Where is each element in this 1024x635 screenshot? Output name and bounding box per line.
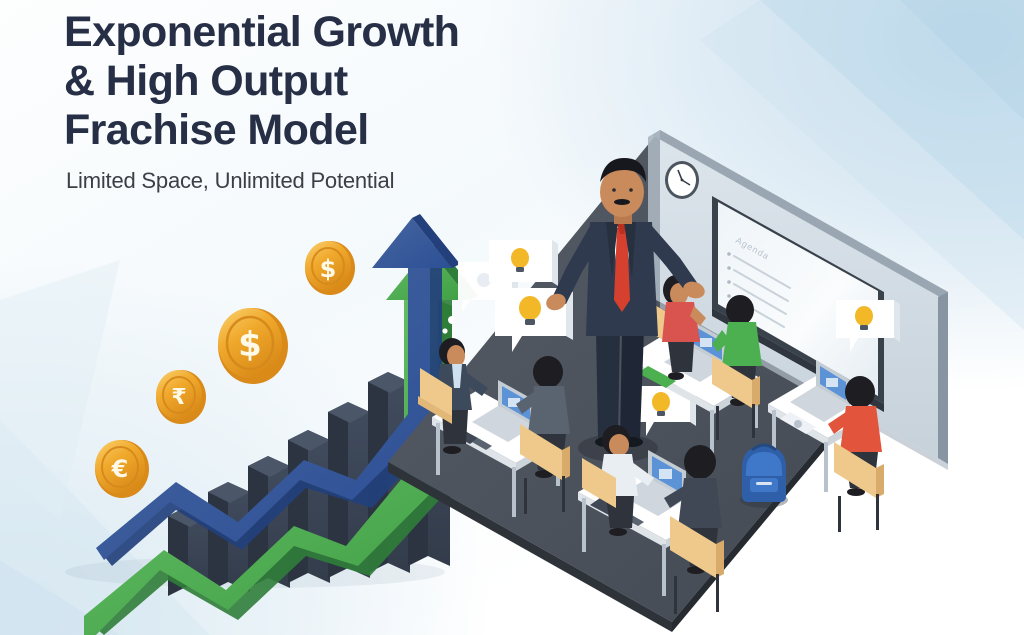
promo-banner: Exponential Growth & High Output Frachis… xyxy=(0,0,1024,635)
wall-clock xyxy=(665,161,699,199)
classroom-illustration: Agenda xyxy=(0,0,1024,635)
student-backpack xyxy=(740,445,788,508)
